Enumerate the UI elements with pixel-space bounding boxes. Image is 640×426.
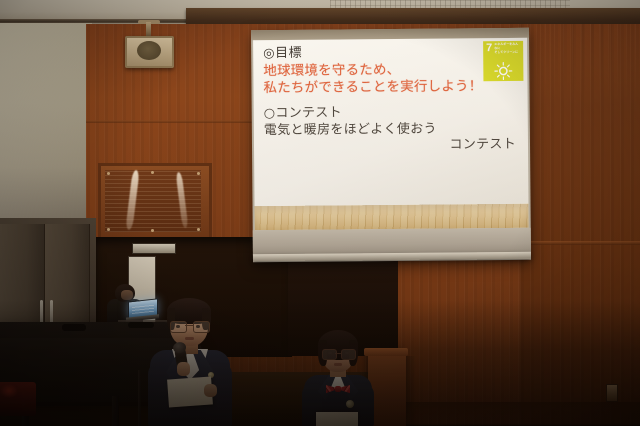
panel-stud [151, 229, 154, 232]
left-cream-wall-shading [0, 23, 92, 223]
glasses-icon [170, 321, 208, 331]
projection-screen: 7 エネルギーをみんなに そしてクリーンに [251, 28, 531, 262]
panel-stud [197, 228, 200, 231]
student-female [300, 332, 376, 426]
speaker-bracket [146, 22, 151, 36]
panel-stud [107, 172, 110, 175]
male-hand-holding-microphone [177, 362, 190, 376]
decorative-panel-frame [98, 163, 212, 243]
slide-text-block: ◎目標 地球環境を守るため、 私たちができることを実行しよう！ ○コンテスト 電… [263, 44, 522, 156]
glasses-lens-right [193, 321, 210, 333]
screen-bottom-bar [253, 252, 531, 261]
female-script-paper [316, 412, 358, 426]
panel-stud [197, 172, 200, 175]
ribbon-tie-knot [335, 386, 341, 392]
slide-highlight-line-2: 私たちができることを実行しよう！ [263, 78, 521, 98]
wall-speaker [125, 36, 174, 68]
panel-stud [107, 228, 110, 231]
operator-face [121, 290, 133, 300]
female-lapel-badge [346, 400, 354, 408]
glasses-lens-right [341, 349, 356, 360]
speaker-cone-icon [137, 41, 161, 60]
glasses-lens-left [170, 321, 187, 333]
glasses-bridge [185, 325, 193, 326]
glasses-icon [322, 349, 354, 358]
photo-scene: 7 エネルギーをみんなに そしてクリーンに [0, 0, 640, 426]
slide-floor-photo-shading [255, 204, 529, 230]
slide-body-line-2: コンテスト [264, 137, 522, 156]
light-switch-plate[interactable] [606, 384, 618, 402]
exit-sign [132, 243, 176, 254]
piano-leg [112, 396, 119, 426]
male-hand-holding-paper [204, 384, 217, 397]
panel-stud [151, 171, 154, 174]
projected-slide: 7 エネルギーをみんなに そしてクリーンに [253, 38, 529, 230]
ribbon-tie [326, 382, 350, 395]
microphone-stand [138, 370, 141, 426]
slide-highlight-line-1: 地球環境を守るため、 [263, 60, 521, 80]
male-mouth [185, 337, 194, 340]
red-chair-highlight [0, 384, 18, 398]
slide-content: 7 エネルギーをみんなに そしてクリーンに [253, 38, 529, 230]
baseboard [400, 402, 640, 426]
student-male [144, 300, 236, 426]
microphone-head-icon [172, 341, 187, 354]
glasses-lens-left [322, 349, 337, 360]
wood-panel-wall-right [520, 24, 640, 426]
piano-cover-opening [62, 324, 86, 331]
female-mouth [334, 363, 342, 366]
